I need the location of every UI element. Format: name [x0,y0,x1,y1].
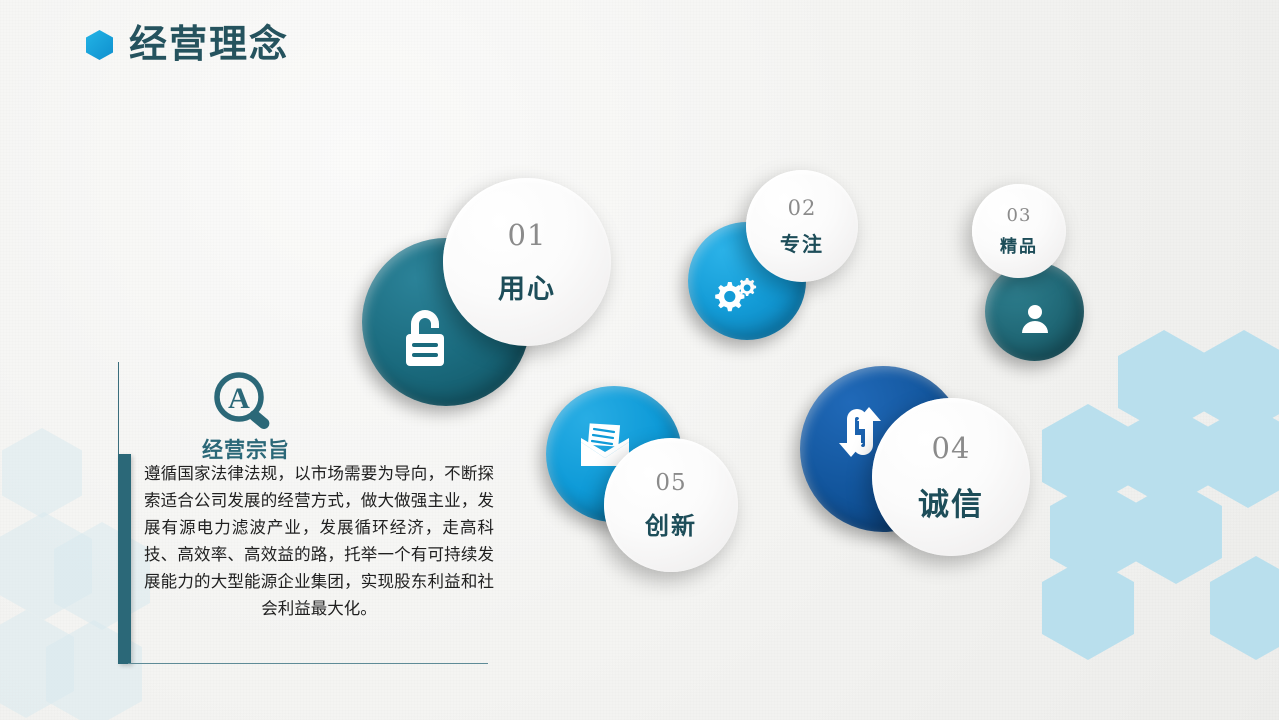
purpose-header: A 经营宗旨 [166,370,326,464]
node-03-label: 精品 [1000,238,1038,255]
person-icon [1018,302,1052,336]
node-05-number: 05 [655,472,686,495]
node-02-label: 专注 [780,235,824,255]
svg-text:A: A [228,382,250,415]
panel-bottom-rule [128,663,488,664]
node-03-icon-circle[interactable] [985,262,1084,361]
hexagon-decor [1042,556,1134,660]
node-04-number: 04 [932,434,971,463]
slide-canvas: 经营理念 A 经营宗旨 遵循国家法律法规，以市场需要为导向，不断探索适合公司发展… [0,0,1279,720]
node-04-label-circle[interactable]: 04 诚信 [872,398,1030,556]
purpose-body-text: 遵循国家法律法规，以市场需要为导向，不断探索适合公司发展的经营方式，做大做强主业… [144,460,494,622]
page-title: 经营理念 [86,26,289,64]
node-01-label-circle[interactable]: 01 用心 [443,178,611,346]
hexagon-decor [2,428,82,518]
purpose-panel: A 经营宗旨 遵循国家法律法规，以市场需要为导向，不断探索适合公司发展的经营方式… [118,362,504,672]
panel-thin-rule [118,362,119,462]
panel-accent-bar [118,454,131,664]
hexagon-decor [1130,480,1222,584]
node-04-label: 诚信 [918,489,984,520]
node-02-number: 02 [788,198,817,219]
node-01-number: 01 [508,221,547,250]
gears-icon [711,274,757,316]
hexagon-icon [86,30,113,60]
node-03-number: 03 [1007,207,1032,225]
hexagon-decor [1202,404,1279,508]
hexagon-decor [1210,556,1279,660]
node-03-label-circle[interactable]: 03 精品 [972,184,1066,278]
node-05-label: 创新 [645,515,697,539]
page-title-text: 经营理念 [129,26,289,64]
node-02-label-circle[interactable]: 02 专注 [746,170,858,282]
node-01-label: 用心 [498,276,556,303]
node-05-label-circle[interactable]: 05 创新 [604,438,738,572]
magnifier-a-icon: A [207,370,285,432]
